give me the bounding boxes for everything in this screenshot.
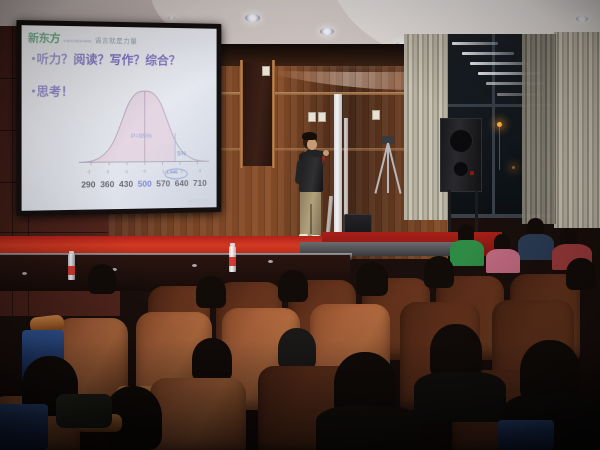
audience-shoulders [486,249,520,273]
slide-footer-bar [188,198,213,204]
projection-screen: 新东方 XINDONGFANG 语言就是力量 听力？阅读？写作？综合？ 思考！ [16,20,221,216]
slide-bullet-2-text: 思考！ [37,82,74,99]
water-bottle-cap [230,243,235,246]
score-tick: 710 [191,178,209,188]
audience-head-bun [278,328,316,370]
logo-mark-text: 新东方 [28,29,60,46]
downlight-icon [245,14,260,22]
wood-trim-strip [190,148,405,151]
audience-shoulders [414,372,506,422]
presenter-hair [302,132,317,140]
score-tick-highlight: 500 [135,179,154,189]
logo-mark-subtext: XINDONGFANG [63,39,92,43]
slide-bullet-1-text: 听力？阅读？写作？综合？ [37,50,181,69]
curtain-right [554,32,600,228]
seat-cushion[interactable] [0,404,48,450]
z-tick: 0 [135,169,154,174]
z-tick: 1 [154,168,172,173]
street-lamp-icon [512,166,515,169]
slide-bullet-1: 听力？阅读？写作？综合？ [32,50,181,69]
pa-speaker [440,118,482,192]
score-tick: 290 [79,179,98,189]
window-light-reflection [462,52,514,55]
audience-head [424,256,454,288]
tripod-leg [387,143,389,193]
slide-bullet-2: 思考！ [32,82,73,99]
audience-shoulders [450,240,484,266]
downlight-icon [168,16,175,20]
audience-head [88,264,116,294]
score-tick: 640 [172,178,190,188]
street-lamp-post [499,126,500,170]
wall-outlet [308,112,316,122]
audience-head [356,262,388,296]
chart-score-tick-labels: 290 360 430 500 570 640 710 [79,178,209,190]
presenter-face [307,139,317,150]
lecture-hall-photo: 新东方 XINDONGFANG 语言就是力量 听力？阅读？写作？综合？ 思考！ [0,0,600,450]
score-tick: 430 [117,179,136,189]
audience-head [192,338,232,382]
z-tick: -1 [117,169,136,174]
curtain-middle [522,34,556,224]
banner-stand [334,94,342,246]
wall-seam [0,232,120,233]
audience-shoulders [518,234,554,260]
z-tick: -2 [98,169,117,174]
chart-z-tick-labels: -3 -2 -1 0 1 2 3 [79,168,209,174]
seat-back[interactable] [150,378,246,450]
chart-annotation-5pct: 5% [177,151,186,158]
stage-edge-light [22,272,27,275]
projection-screen-surface: 新东方 XINDONGFANG 语言就是力量 听力？阅读？写作？综合？ 思考！ [22,25,217,211]
water-bottle-label [229,257,236,266]
audience-shoulders [316,406,420,450]
curve-shaded-area [81,91,207,163]
speaker-cone [453,161,469,177]
stage-edge-light [192,264,197,267]
stage-edge-light [268,260,273,263]
z-tick: 2 [172,168,190,173]
water-bottle-cap [69,251,74,254]
wall-outlet [372,110,380,120]
logo-tagline: 语言就是力量 [95,35,137,46]
normal-distribution-chart: P=95% 5% 1.645 -3 -2 -1 0 1 2 3 290 360 … [79,89,209,202]
wall-outlet [262,66,270,76]
seat-cushion[interactable] [498,420,554,450]
score-tick: 360 [98,179,117,189]
bullet-dot-icon [32,57,35,60]
backpack [56,394,112,428]
bullet-dot-icon [32,90,35,93]
window-light-reflection [452,42,498,45]
wall-outlet [318,112,326,122]
chart-annotation-p95: P=95% [131,133,152,140]
downlight-icon [576,16,588,22]
audience-head [278,270,308,302]
score-tick: 570 [154,178,172,188]
speaker-led [470,171,474,175]
wood-trim-strip [190,92,405,95]
water-bottle-label [68,266,75,275]
audience-head [196,276,226,308]
z-tick: -3 [79,169,98,174]
slide-logo: 新东方 XINDONGFANG 语言就是力量 [28,29,138,47]
normal-curve-svg [79,89,209,172]
window-light-reflection [470,62,528,65]
microphone-icon [322,156,325,165]
stage-side-door[interactable] [243,62,273,166]
downlight-icon [320,28,334,35]
presenter-leg-split [310,204,312,234]
audience-head [566,258,596,290]
z-tick: 3 [191,168,209,173]
street-lamp-icon [497,122,502,127]
door-frame [240,60,243,168]
door-frame [272,60,275,168]
speaker-cone [449,129,473,153]
